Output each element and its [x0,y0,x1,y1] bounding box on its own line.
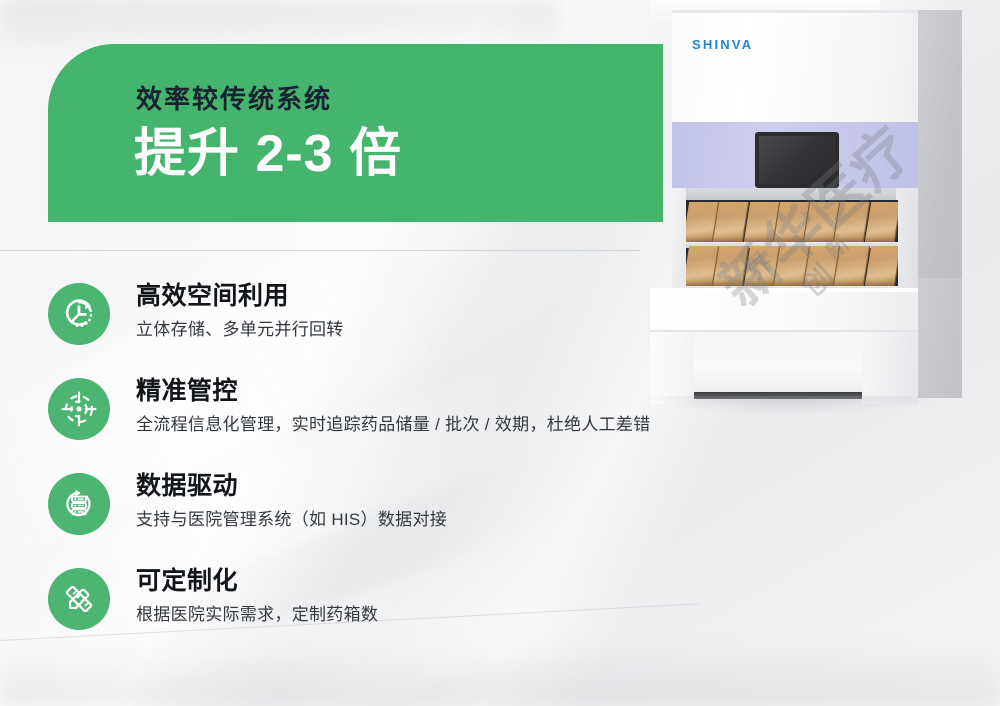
banner-eyebrow-text: 效率较传统系统 [136,86,332,112]
feature-description: 立体存储、多单元并行回转 [136,319,344,342]
feature-description: 支持与医院管理系统（如 HIS）数据对接 [136,509,447,532]
crosshair-target-icon [48,378,110,440]
feature-item-space-utilization: 高效空间利用 立体存储、多单元并行回转 [48,283,748,378]
banner-headline-text: 提升 2-3 倍 [134,126,402,183]
machine-top-bevel [672,10,918,13]
feature-text-block: 可定制化 根据医院实际需求，定制药箱数 [136,566,378,627]
poster-canvas: SHINVA [0,0,1000,706]
medicine-bin [865,202,898,242]
database-sync-icon [48,473,110,535]
headline-banner: 效率较传统系统 提升 2-3 倍 [48,44,663,222]
machine-shelf-right-wall [896,188,918,288]
feature-item-data-driven: 数据驱动 支持与医院管理系统（如 HIS）数据对接 [48,473,748,568]
feature-title: 数据驱动 [136,471,447,502]
machine-shelf-left-wall [672,188,686,288]
machine-shelf-header [672,188,918,200]
medicine-bin [865,246,898,286]
bin-row [686,202,898,242]
machine-touchscreen[interactable] [755,132,839,188]
feature-text-block: 高效空间利用 立体存储、多单元并行回转 [136,281,344,342]
feature-text-block: 精准管控 全流程信息化管理，实时追踪药品储量 / 批次 / 效期，杜绝人工差错 [136,376,651,437]
feature-title: 精准管控 [136,376,651,407]
feature-text-block: 数据驱动 支持与医院管理系统（如 HIS）数据对接 [136,471,447,532]
feature-list: 高效空间利用 立体存储、多单元并行回转 精准管控 全流程信息化管理，实时追踪药品… [48,283,748,663]
clock-rotate-icon [48,283,110,345]
feature-description: 根据医院实际需求，定制药箱数 [136,604,378,627]
machine-right-pedestal [862,332,918,404]
feature-item-customizable: 可定制化 根据医院实际需求，定制药箱数 [48,568,748,663]
shinva-logo: SHINVA [692,37,753,52]
machine-medicine-bin-shelf [686,200,898,288]
feature-title: 高效空间利用 [136,281,344,312]
background-wall-line [0,250,640,251]
machine-screen-glass [759,136,835,184]
feature-title: 可定制化 [136,566,378,597]
feature-item-precision-control: 精准管控 全流程信息化管理，实时追踪药品储量 / 批次 / 效期，杜绝人工差错 [48,378,748,473]
ruler-pencil-icon [48,568,110,630]
bin-row [686,246,898,286]
feature-description: 全流程信息化管理，实时追踪药品储量 / 批次 / 效期，杜绝人工差错 [136,414,651,437]
